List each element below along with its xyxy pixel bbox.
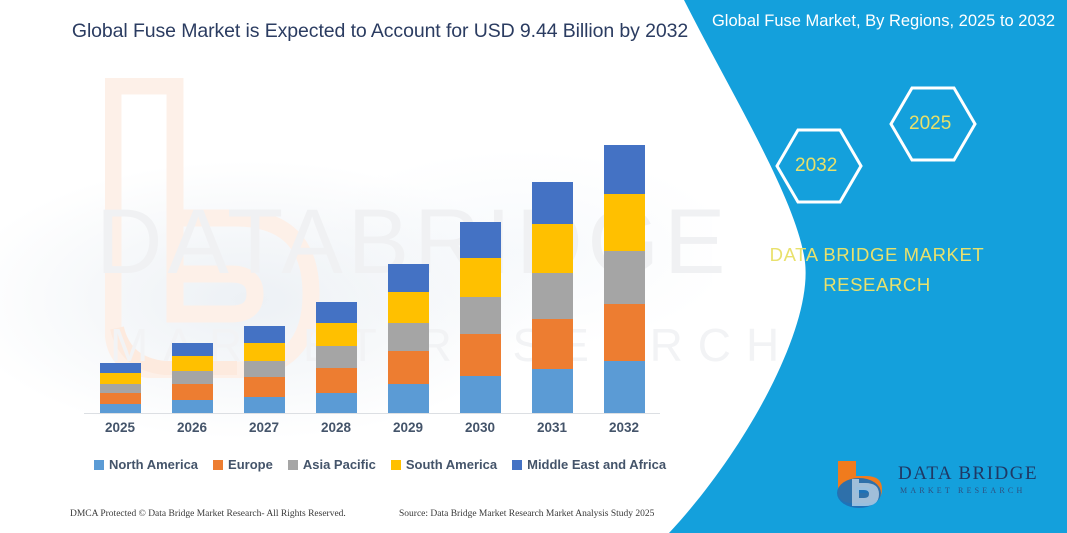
bar-segment [244,326,285,343]
bar-segment [244,377,285,397]
chart-title: Global Fuse Market is Expected to Accoun… [60,20,700,43]
x-axis-line [84,413,660,414]
bar-segment [316,368,357,393]
bar-segment [460,258,501,297]
hexagon-label-2025: 2025 [909,113,951,135]
bar-segment [532,369,573,414]
right-info-panel: Global Fuse Market, By Regions, 2025 to … [647,0,1067,533]
x-axis-label-2025: 2025 [100,420,141,435]
legend-item[interactable]: South America [391,457,497,472]
bar-segment [388,323,429,352]
x-axis-label-2031: 2031 [532,420,573,435]
legend-label: Asia Pacific [303,457,376,472]
legend-item[interactable]: Asia Pacific [288,457,376,472]
legend-swatch [288,460,298,470]
footer-copyright: DMCA Protected © Data Bridge Market Rese… [70,509,346,519]
infographic-slide: DATABRIDGE MARKET RESEARCH Global Fuse M… [0,0,1067,533]
chart-legend: North AmericaEuropeAsia PacificSouth Ame… [60,457,700,472]
bar-segment [316,302,357,322]
panel-brand-line2: RESEARCH [687,270,1067,300]
logo-tagline: MARKET RESEARCH [900,486,1025,495]
legend-item[interactable]: North America [94,457,198,472]
bar-segment [532,319,573,369]
bar-segment [460,334,501,376]
legend-label: North America [109,457,198,472]
bar-segment [244,343,285,361]
bar-segment [460,297,501,334]
panel-title: Global Fuse Market, By Regions, 2025 to … [667,10,1055,34]
x-axis-label-2029: 2029 [388,420,429,435]
bar-segment [604,251,645,304]
bar-segment [244,397,285,414]
bar-segment [172,371,213,384]
bar-2030 [460,222,501,414]
bar-2025 [100,363,141,414]
x-axis-label-2030: 2030 [460,420,501,435]
bar-segment [532,224,573,273]
bar-segment [604,145,645,194]
bar-segment [172,356,213,371]
bar-segment [388,292,429,323]
bar-segment [100,393,141,404]
legend-swatch [512,460,522,470]
bar-segment [388,384,429,414]
bar-segment [604,194,645,251]
x-axis-labels: 20252026202720282029203020312032 [84,420,660,435]
hexagon-badges: 2032 2025 [647,80,1067,210]
panel-brand-name: DATA BRIDGE MARKET RESEARCH [687,240,1067,299]
footer-source: Source: Data Bridge Market Research Mark… [399,509,654,519]
x-axis-label-2028: 2028 [316,420,357,435]
bar-2032 [604,145,645,414]
hexagon-label-2032: 2032 [795,155,837,177]
bar-segment [460,376,501,414]
bar-segment [316,393,357,414]
hexagon-outline-icon [647,80,1067,210]
legend-item[interactable]: Middle East and Africa [512,457,666,472]
bar-2027 [244,326,285,414]
bar-segment [172,400,213,414]
panel-brand-line1: DATA BRIDGE MARKET [687,240,1067,270]
bar-segment [172,343,213,356]
bar-segment [532,273,573,319]
bar-segment [460,222,501,258]
legend-label: South America [406,457,497,472]
bar-chart-plot [84,70,660,414]
bar-segment [604,361,645,414]
bar-2031 [532,182,573,414]
legend-label: Europe [228,457,273,472]
x-axis-label-2026: 2026 [172,420,213,435]
bar-segment [316,323,357,346]
bar-segment [244,361,285,378]
bar-segment [172,384,213,400]
bar-segment [388,264,429,292]
legend-label: Middle East and Africa [527,457,666,472]
bar-segment [100,373,141,384]
legend-item[interactable]: Europe [213,457,273,472]
bar-segment [532,182,573,224]
x-axis-label-2032: 2032 [604,420,645,435]
bar-segment [316,346,357,368]
legend-swatch [94,460,104,470]
bar-segment [388,351,429,384]
bar-2026 [172,343,213,414]
data-bridge-logo: DATA BRIDGE MARKET RESEARCH [832,455,1042,513]
bar-segment [100,384,141,393]
bar-segment [100,363,141,373]
bar-segment [604,304,645,362]
bar-2028 [316,302,357,414]
legend-swatch [213,460,223,470]
legend-swatch [391,460,401,470]
x-axis-label-2027: 2027 [244,420,285,435]
logo-mark-icon [832,457,892,509]
logo-name: DATA BRIDGE [898,463,1038,485]
bar-2029 [388,264,429,414]
